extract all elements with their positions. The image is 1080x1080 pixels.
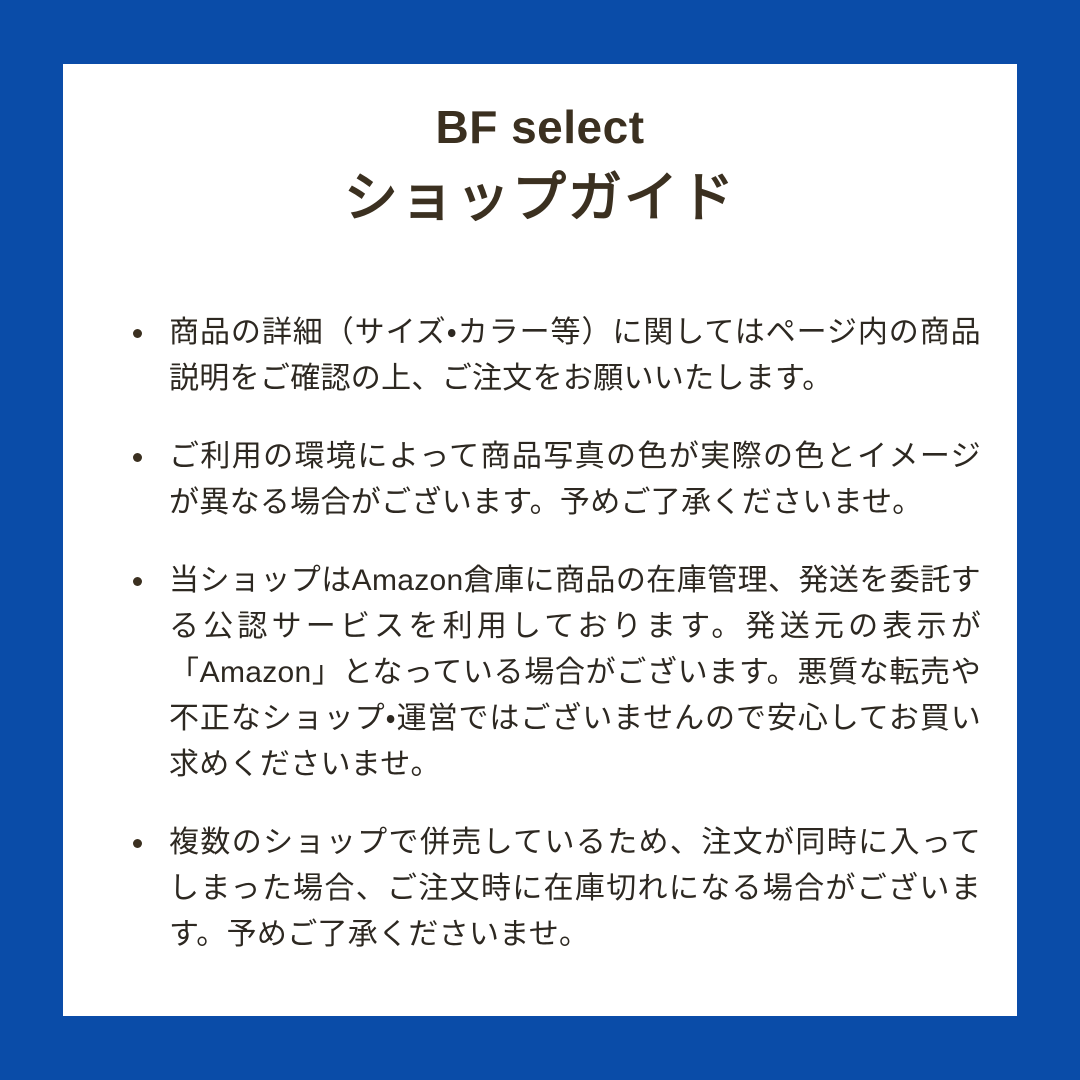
list-item: 商品の詳細（サイズ・カラー等）に関してはページ内の商品説明をご確認の上、ご注文を… <box>121 310 981 402</box>
bullet-dot-icon <box>133 453 142 462</box>
guide-card: BF select ショップガイド 商品の詳細（サイズ・カラー等）に関してはペー… <box>63 64 1017 1016</box>
list-item: 当ショップはAmazon倉庫に商品の在庫管理、発送を委託する公認サービスを利用し… <box>121 558 981 788</box>
list-item: ご利用の環境によって商品写真の色が実際の色とイメージが異なる場合がございます。予… <box>121 434 981 526</box>
title-brand: BF select <box>63 98 1017 157</box>
page-root: BF select ショップガイド 商品の詳細（サイズ・カラー等）に関してはペー… <box>0 0 1080 1080</box>
bullet-dot-icon <box>133 329 142 338</box>
list-item-text: 複数のショップで併売しているため、注文が同時に入ってしまった場合、ご注文時に在庫… <box>169 820 981 958</box>
guide-bullet-list: 商品の詳細（サイズ・カラー等）に関してはページ内の商品説明をご確認の上、ご注文を… <box>121 310 981 958</box>
list-item: 複数のショップで併売しているため、注文が同時に入ってしまった場合、ご注文時に在庫… <box>121 820 981 958</box>
list-item-text: 当ショップはAmazon倉庫に商品の在庫管理、発送を委託する公認サービスを利用し… <box>169 558 981 788</box>
bullet-dot-icon <box>133 839 142 848</box>
list-item-text: 商品の詳細（サイズ・カラー等）に関してはページ内の商品説明をご確認の上、ご注文を… <box>169 310 981 402</box>
page-title: BF select ショップガイド <box>63 98 1017 233</box>
title-subtitle: ショップガイド <box>63 163 1017 233</box>
list-item-text: ご利用の環境によって商品写真の色が実際の色とイメージが異なる場合がございます。予… <box>169 434 981 526</box>
bullet-dot-icon <box>133 577 142 586</box>
